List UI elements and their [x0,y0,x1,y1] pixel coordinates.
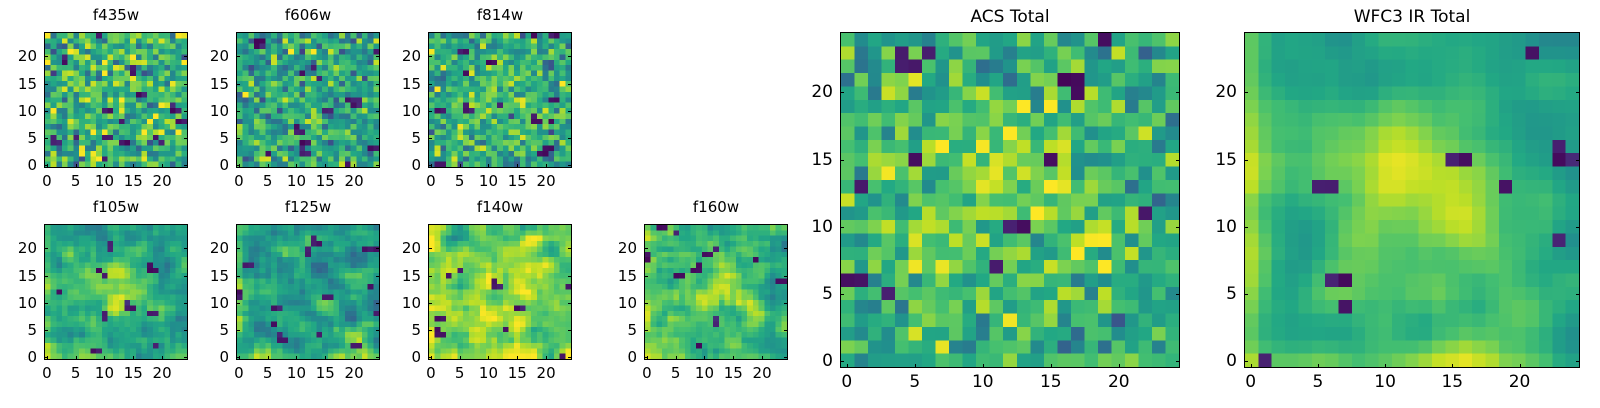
xtick-f606w-20 [354,164,355,168]
xtick-f105w-20 [162,356,163,360]
ytick-right-wfc3-ir-total-15 [1576,160,1580,161]
yticklabel-f160w-20: 20 [584,239,637,257]
yticklabel-f435w-10: 10 [0,102,37,120]
xticklabel-f140w-5: 5 [455,364,465,382]
xtick-f606w-10 [296,164,297,168]
ytick-f160w-5 [644,330,648,331]
xtick-f606w-5 [268,164,269,168]
yticklabel-acs-total-0: 0 [780,351,833,371]
xtick-acs-total-5 [915,364,916,368]
xticklabel-f435w-15: 15 [124,172,143,190]
ytick-f606w-20 [236,56,240,57]
ytick-f606w-0 [236,165,240,166]
yticklabel-f435w-0: 0 [0,156,37,174]
xticklabel-f814w-5: 5 [455,172,465,190]
ytick-acs-total-20 [840,92,844,93]
xticklabel-f160w-20: 20 [753,364,772,382]
panel-f814w: f814w0510152005101520 [368,2,632,208]
xticklabel-f606w-5: 5 [263,172,273,190]
ytick-wfc3-ir-total-0 [1244,361,1248,362]
xtick-f105w-5 [76,356,77,360]
heatmap-image-wfc3-ir-total [1245,33,1579,367]
yticklabel-f814w-0: 0 [368,156,421,174]
xticklabel-f814w-0: 0 [426,172,436,190]
yticklabel-f160w-0: 0 [584,348,637,366]
xtick-f140w-20 [546,356,547,360]
xticklabel-acs-total-0: 0 [841,372,852,392]
ytick-wfc3-ir-total-5 [1244,294,1248,295]
ytick-right-acs-total-20 [1176,92,1180,93]
xtick-acs-total-0 [847,364,848,368]
xtick-f125w-5 [268,356,269,360]
ytick-wfc3-ir-total-10 [1244,227,1248,228]
ytick-f140w-5 [428,330,432,331]
xticklabel-f140w-0: 0 [426,364,436,382]
xtick-wfc3-ir-total-20 [1520,364,1521,368]
yticklabel-f814w-10: 10 [368,102,421,120]
xtick-f814w-20 [546,164,547,168]
yticklabel-f105w-20: 20 [0,239,37,257]
xticklabel-f125w-5: 5 [263,364,273,382]
panel-acs-total: ACS Total0510152005101520 [780,2,1240,408]
ytick-wfc3-ir-total-15 [1244,160,1248,161]
ytick-f140w-20 [428,248,432,249]
yticklabel-wfc3-ir-total-10: 10 [1184,217,1237,237]
xtick-acs-total-15 [1051,364,1052,368]
ytick-f140w-10 [428,303,432,304]
heatmap-f125w [236,224,380,360]
ytick-right-acs-total-5 [1176,294,1180,295]
xtick-f160w-20 [762,356,763,360]
yticklabel-f140w-20: 20 [368,239,421,257]
yticklabel-f435w-20: 20 [0,47,37,65]
heatmap-f160w [644,224,788,360]
panel-title-wfc3-ir-total: WFC3 IR Total [1184,7,1600,27]
xtick-f814w-10 [488,164,489,168]
ytick-right-f140w-10 [568,303,572,304]
xtick-f435w-20 [162,164,163,168]
yticklabel-acs-total-15: 15 [780,150,833,170]
yticklabel-wfc3-ir-total-20: 20 [1184,82,1237,102]
xticklabel-wfc3-ir-total-10: 10 [1374,372,1396,392]
ytick-f814w-20 [428,56,432,57]
xtick-f606w-15 [325,164,326,168]
xticklabel-f125w-10: 10 [287,364,306,382]
ytick-acs-total-0 [840,361,844,362]
ytick-right-acs-total-10 [1176,227,1180,228]
xticklabel-f160w-5: 5 [671,364,681,382]
xticklabel-acs-total-15: 15 [1040,372,1062,392]
ytick-right-f140w-20 [568,248,572,249]
yticklabel-f140w-0: 0 [368,348,421,366]
yticklabel-f125w-5: 5 [176,321,229,339]
ytick-right-wfc3-ir-total-10 [1576,227,1580,228]
xticklabel-acs-total-20: 20 [1108,372,1130,392]
yticklabel-f814w-20: 20 [368,47,421,65]
ytick-f105w-10 [44,303,48,304]
xtick-f814w-15 [517,164,518,168]
xtick-f160w-15 [733,356,734,360]
ytick-f140w-15 [428,276,432,277]
yticklabel-f125w-20: 20 [176,239,229,257]
ytick-right-acs-total-15 [1176,160,1180,161]
ytick-right-f814w-10 [568,111,572,112]
xtick-f160w-10 [704,356,705,360]
xtick-f140w-15 [517,356,518,360]
xtick-f140w-5 [460,356,461,360]
xticklabel-f160w-0: 0 [642,364,652,382]
ytick-right-wfc3-ir-total-20 [1576,92,1580,93]
ytick-f125w-15 [236,276,240,277]
panel-title-acs-total: ACS Total [780,7,1240,27]
yticklabel-f606w-5: 5 [176,129,229,147]
ytick-f814w-15 [428,84,432,85]
xticklabel-f105w-0: 0 [42,364,52,382]
heatmap-f814w [428,32,572,168]
xticklabel-f814w-10: 10 [479,172,498,190]
yticklabel-f160w-15: 15 [584,267,637,285]
xticklabel-f105w-15: 15 [124,364,143,382]
xtick-f125w-10 [296,356,297,360]
ytick-right-f814w-20 [568,56,572,57]
ytick-acs-total-15 [840,160,844,161]
xtick-f160w-5 [676,356,677,360]
ytick-right-f140w-0 [568,357,572,358]
heatmap-wfc3-ir-total [1244,32,1580,368]
heatmap-f435w [44,32,188,168]
ytick-f105w-20 [44,248,48,249]
yticklabel-f160w-5: 5 [584,321,637,339]
ytick-f160w-0 [644,357,648,358]
yticklabel-f105w-5: 5 [0,321,37,339]
xticklabel-f140w-15: 15 [508,364,527,382]
ytick-f435w-10 [44,111,48,112]
ytick-acs-total-10 [840,227,844,228]
xtick-f435w-5 [76,164,77,168]
heatmap-image-acs-total [841,33,1179,367]
ytick-f606w-5 [236,138,240,139]
yticklabel-f606w-0: 0 [176,156,229,174]
yticklabel-f140w-5: 5 [368,321,421,339]
yticklabel-wfc3-ir-total-0: 0 [1184,351,1237,371]
heatmap-f105w [44,224,188,360]
ytick-right-wfc3-ir-total-0 [1576,361,1580,362]
ytick-f140w-0 [428,357,432,358]
ytick-f125w-20 [236,248,240,249]
heatmap-f606w [236,32,380,168]
ytick-f160w-20 [644,248,648,249]
ytick-f125w-0 [236,357,240,358]
ytick-wfc3-ir-total-20 [1244,92,1248,93]
heatmap-image-f435w [45,33,187,167]
xticklabel-wfc3-ir-total-20: 20 [1509,372,1531,392]
ytick-f105w-5 [44,330,48,331]
ytick-f125w-5 [236,330,240,331]
ytick-f606w-10 [236,111,240,112]
heatmap-f140w [428,224,572,360]
ytick-f160w-15 [644,276,648,277]
yticklabel-f435w-15: 15 [0,75,37,93]
xtick-f105w-15 [133,356,134,360]
xticklabel-acs-total-10: 10 [972,372,994,392]
xtick-f140w-10 [488,356,489,360]
ytick-f435w-5 [44,138,48,139]
yticklabel-f125w-10: 10 [176,294,229,312]
yticklabel-f606w-15: 15 [176,75,229,93]
yticklabel-acs-total-10: 10 [780,217,833,237]
xtick-wfc3-ir-total-5 [1318,364,1319,368]
ytick-f814w-10 [428,111,432,112]
panel-title-f814w: f814w [368,6,632,24]
ytick-f435w-20 [44,56,48,57]
xticklabel-f435w-5: 5 [71,172,81,190]
xtick-f435w-15 [133,164,134,168]
xticklabel-acs-total-5: 5 [909,372,920,392]
yticklabel-acs-total-20: 20 [780,82,833,102]
yticklabel-f105w-0: 0 [0,348,37,366]
xticklabel-f105w-10: 10 [95,364,114,382]
ytick-right-f814w-0 [568,165,572,166]
heatmap-image-f606w [237,33,379,167]
ytick-right-f140w-5 [568,330,572,331]
xticklabel-wfc3-ir-total-0: 0 [1245,372,1256,392]
xtick-wfc3-ir-total-10 [1385,364,1386,368]
xtick-f105w-10 [104,356,105,360]
ytick-right-f140w-15 [568,276,572,277]
xticklabel-f160w-10: 10 [695,364,714,382]
xtick-wfc3-ir-total-0 [1251,364,1252,368]
xticklabel-f125w-20: 20 [345,364,364,382]
heatmap-image-f160w [645,225,787,359]
xticklabel-wfc3-ir-total-15: 15 [1441,372,1463,392]
yticklabel-f140w-15: 15 [368,267,421,285]
panel-wfc3-ir-total: WFC3 IR Total0510152005101520 [1184,2,1600,408]
heatmap-image-f140w [429,225,571,359]
ytick-right-f814w-15 [568,84,572,85]
xtick-acs-total-10 [983,364,984,368]
heatmap-acs-total [840,32,1180,368]
yticklabel-f105w-10: 10 [0,294,37,312]
yticklabel-f606w-10: 10 [176,102,229,120]
ytick-acs-total-5 [840,294,844,295]
xticklabel-f140w-20: 20 [537,364,556,382]
yticklabel-f814w-5: 5 [368,129,421,147]
ytick-f435w-15 [44,84,48,85]
xtick-f125w-15 [325,356,326,360]
xticklabel-f160w-15: 15 [724,364,743,382]
ytick-f125w-10 [236,303,240,304]
yticklabel-f125w-0: 0 [176,348,229,366]
yticklabel-acs-total-5: 5 [780,284,833,304]
heatmap-image-f125w [237,225,379,359]
yticklabel-f160w-10: 10 [584,294,637,312]
yticklabel-f105w-15: 15 [0,267,37,285]
ytick-f105w-15 [44,276,48,277]
ytick-right-wfc3-ir-total-5 [1576,294,1580,295]
xtick-wfc3-ir-total-15 [1452,364,1453,368]
xticklabel-f814w-20: 20 [537,172,556,190]
xticklabel-f606w-20: 20 [345,172,364,190]
xticklabel-f606w-15: 15 [316,172,335,190]
xticklabel-f435w-0: 0 [42,172,52,190]
xticklabel-wfc3-ir-total-5: 5 [1312,372,1323,392]
xticklabel-f105w-5: 5 [71,364,81,382]
xtick-f814w-5 [460,164,461,168]
yticklabel-f435w-5: 5 [0,129,37,147]
ytick-f435w-0 [44,165,48,166]
xticklabel-f125w-15: 15 [316,364,335,382]
xticklabel-f105w-20: 20 [153,364,172,382]
ytick-f105w-0 [44,357,48,358]
xtick-acs-total-20 [1119,364,1120,368]
ytick-right-acs-total-0 [1176,361,1180,362]
xticklabel-f140w-10: 10 [479,364,498,382]
ytick-f814w-5 [428,138,432,139]
ytick-f814w-0 [428,165,432,166]
xticklabel-f606w-0: 0 [234,172,244,190]
yticklabel-f606w-20: 20 [176,47,229,65]
yticklabel-f140w-10: 10 [368,294,421,312]
yticklabel-wfc3-ir-total-5: 5 [1184,284,1237,304]
xticklabel-f125w-0: 0 [234,364,244,382]
ytick-f160w-10 [644,303,648,304]
yticklabel-f125w-15: 15 [176,267,229,285]
ytick-right-f814w-5 [568,138,572,139]
heatmap-image-f105w [45,225,187,359]
xticklabel-f606w-10: 10 [287,172,306,190]
yticklabel-f814w-15: 15 [368,75,421,93]
ytick-f606w-15 [236,84,240,85]
xticklabel-f435w-20: 20 [153,172,172,190]
xticklabel-f814w-15: 15 [508,172,527,190]
xtick-f435w-10 [104,164,105,168]
heatmap-image-f814w [429,33,571,167]
xtick-f125w-20 [354,356,355,360]
yticklabel-wfc3-ir-total-15: 15 [1184,150,1237,170]
xticklabel-f435w-10: 10 [95,172,114,190]
